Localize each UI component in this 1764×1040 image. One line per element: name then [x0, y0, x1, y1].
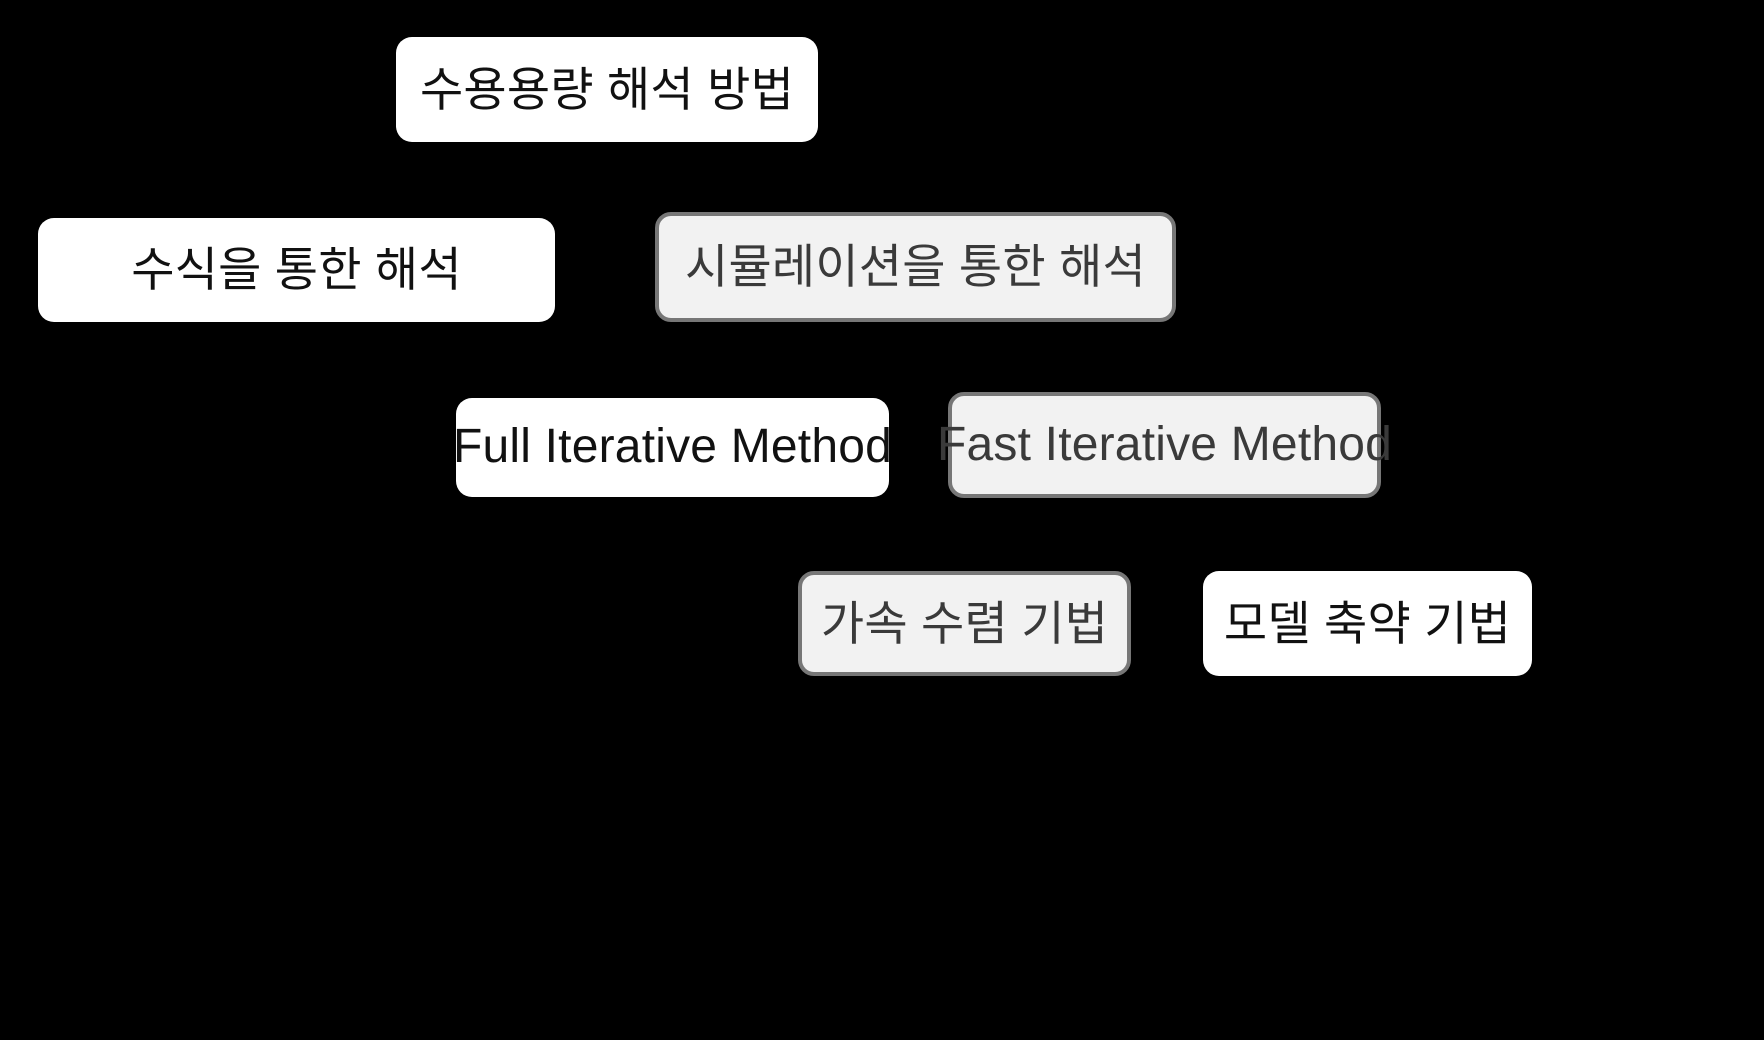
node-formula-analysis[interactable]: 수식을 통한 해석	[38, 218, 555, 322]
node-root[interactable]: 수용용량 해석 방법	[396, 37, 818, 142]
node-model-reduction-label: 모델 축약 기법	[1214, 598, 1521, 650]
node-simulation-analysis[interactable]: 시뮬레이션을 통한 해석	[655, 212, 1176, 322]
node-root-label: 수용용량 해석 방법	[410, 64, 804, 116]
node-full-iterative-method-label: Full Iterative Method	[443, 421, 902, 474]
node-fast-iterative-method-label: Fast Iterative Method	[927, 419, 1402, 472]
diagram-canvas: 수용용량 해석 방법 수식을 통한 해석 시뮬레이션을 통한 해석 Full I…	[0, 0, 1764, 1040]
node-full-iterative-method[interactable]: Full Iterative Method	[456, 398, 889, 497]
node-model-reduction[interactable]: 모델 축약 기법	[1203, 571, 1532, 676]
node-formula-analysis-label: 수식을 통한 해석	[121, 244, 472, 296]
node-simulation-analysis-label: 시뮬레이션을 통한 해석	[675, 241, 1156, 293]
node-acceleration-convergence[interactable]: 가속 수렴 기법	[798, 571, 1131, 676]
node-acceleration-convergence-label: 가속 수렴 기법	[811, 598, 1118, 650]
node-fast-iterative-method[interactable]: Fast Iterative Method	[948, 392, 1381, 498]
